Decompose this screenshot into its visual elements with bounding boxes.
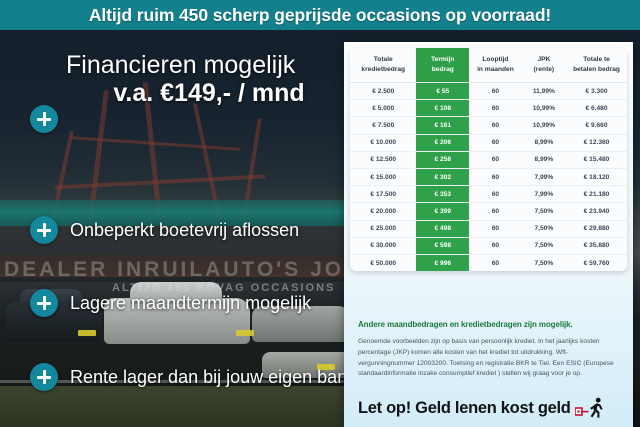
table-header-jpk: JPK (rente)	[522, 48, 566, 83]
table-cell: 8,99%	[522, 151, 566, 168]
disclaimer-body: Genoemde voorbeelden zijn op basis van p…	[358, 337, 620, 380]
table-cell: € 7.500	[350, 117, 416, 134]
disclaimer-title: Andere maandbedragen en kredietbedragen …	[358, 320, 620, 330]
bullet-label: Rente lager dan bij jouw eigen bank	[70, 367, 356, 388]
table-cell: € 18.120	[566, 169, 627, 186]
table-cell: 60	[469, 100, 522, 117]
table-cell: € 10.000	[350, 134, 416, 151]
table-row: € 10.000€ 206608,99%€ 12.360	[350, 134, 627, 151]
advertisement-banner: DEALER INRUILAUTO'S JOHAN MEURE ALTIJD 4…	[0, 0, 640, 427]
table-row: € 15.000€ 302607,99%€ 18.120	[350, 169, 627, 186]
table-cell: € 399	[416, 203, 469, 220]
table-header-totale-te-betalen: Totale te betalen bedrag	[566, 48, 627, 83]
table-cell: € 17.500	[350, 186, 416, 203]
table-row: € 2.500€ 556011,99%€ 3.300	[350, 83, 627, 100]
table-cell: 7,50%	[522, 220, 566, 237]
table-cell: 7,99%	[522, 186, 566, 203]
table-cell: 60	[469, 169, 522, 186]
bullet-item-rente: Rente lager dan bij jouw eigen bank	[30, 363, 356, 391]
table-cell: € 50.000	[350, 254, 416, 271]
table-cell: € 21.180	[566, 186, 627, 203]
table-row: € 50.000€ 996607,50%€ 59.760	[350, 254, 627, 271]
table-cell: 60	[469, 237, 522, 254]
table-cell: € 20.000	[350, 203, 416, 220]
header-line: Totale	[374, 56, 393, 63]
table-cell: € 3.300	[566, 83, 627, 100]
table-cell: € 2.500	[350, 83, 416, 100]
table-row: € 7.500€ 1616010,99%€ 9.660	[350, 117, 627, 134]
table-row: € 5.000€ 1086010,99%€ 6.480	[350, 100, 627, 117]
header-line: JPK	[537, 56, 550, 63]
plus-icon	[30, 289, 58, 317]
table-cell: 8,99%	[522, 134, 566, 151]
table-row: € 20.000€ 399607,50%€ 23.940	[350, 203, 627, 220]
header-line: Termijn	[431, 56, 454, 63]
table-cell: 60	[469, 220, 522, 237]
table-cell: 60	[469, 134, 522, 151]
table-cell: 60	[469, 83, 522, 100]
table-cell: € 206	[416, 134, 469, 151]
legal-warning: Let op! Geld lenen kost geld	[358, 397, 605, 419]
table-cell: 60	[469, 151, 522, 168]
table-header-looptijd: Looptijd in maanden	[469, 48, 522, 83]
table-cell: € 55	[416, 83, 469, 100]
legal-warning-text: Let op! Geld lenen kost geld	[358, 399, 571, 418]
header-line: in maanden	[477, 66, 514, 73]
table-cell: € 302	[416, 169, 469, 186]
table-cell: € 30.000	[350, 237, 416, 254]
rates-panel: Totale kredietbedrag Termijn bedrag Loop…	[344, 42, 633, 427]
table-cell: € 996	[416, 254, 469, 271]
table-cell: 7,50%	[522, 203, 566, 220]
table-cell: 7,50%	[522, 237, 566, 254]
table-cell: € 498	[416, 220, 469, 237]
top-banner-text: Altijd ruim 450 scherp geprijsde occasio…	[89, 5, 551, 26]
table-cell: € 6.480	[566, 100, 627, 117]
table-cell: € 12.360	[566, 134, 627, 151]
table-cell: € 25.000	[350, 220, 416, 237]
table-cell: € 15.480	[566, 151, 627, 168]
plus-icon	[30, 363, 58, 391]
table-cell: 60	[469, 203, 522, 220]
table-cell: 7,99%	[522, 169, 566, 186]
table-cell: 10,99%	[522, 100, 566, 117]
rates-table-card: Totale kredietbedrag Termijn bedrag Loop…	[350, 48, 627, 271]
table-cell: € 23.940	[566, 203, 627, 220]
table-header-row: Totale kredietbedrag Termijn bedrag Loop…	[350, 48, 627, 83]
table-cell: € 353	[416, 186, 469, 203]
table-cell: 10,99%	[522, 117, 566, 134]
bullet-label: Onbeperkt boetevrij aflossen	[70, 220, 299, 241]
rates-table: Totale kredietbedrag Termijn bedrag Loop…	[350, 48, 627, 271]
top-banner: Altijd ruim 450 scherp geprijsde occasio…	[0, 0, 640, 30]
table-row: € 25.000€ 498607,50%€ 29.880	[350, 220, 627, 237]
table-cell: € 258	[416, 151, 469, 168]
table-cell: € 108	[416, 100, 469, 117]
table-cell: 7,50%	[522, 254, 566, 271]
table-cell: 11,99%	[522, 83, 566, 100]
header-line: (rente)	[534, 66, 555, 73]
plus-icon	[30, 216, 58, 244]
left-content-column: Financieren mogelijk v.a. €149,- / mnd O…	[0, 30, 352, 427]
table-cell: € 598	[416, 237, 469, 254]
header-line: Looptijd	[482, 56, 508, 63]
bullet-item-aflossen: Onbeperkt boetevrij aflossen	[30, 216, 299, 244]
table-row: € 12.500€ 258608,99%€ 15.480	[350, 151, 627, 168]
table-header-termijnbedrag: Termijn bedrag	[416, 48, 469, 83]
table-cell: € 29.880	[566, 220, 627, 237]
header-line: Totale te	[583, 56, 610, 63]
page-title: Financieren mogelijk v.a. €149,- / mnd	[66, 52, 352, 108]
header-line: betalen bedrag	[573, 66, 620, 73]
table-cell: € 9.660	[566, 117, 627, 134]
table-cell: € 5.000	[350, 100, 416, 117]
running-person-warning-icon	[575, 397, 605, 419]
table-cell: € 12.500	[350, 151, 416, 168]
bullet-item-maandtermijn: Lagere maandtermijn mogelijk	[30, 289, 311, 317]
table-cell: 60	[469, 254, 522, 271]
header-line: kredietbedrag	[361, 66, 405, 73]
disclaimer-section: Andere maandbedragen en kredietbedragen …	[358, 320, 620, 380]
table-cell: € 59.760	[566, 254, 627, 271]
table-cell: 60	[469, 117, 522, 134]
bullet-item-financieren	[30, 105, 58, 133]
table-cell: 60	[469, 186, 522, 203]
table-row: € 30.000€ 598607,50%€ 35.880	[350, 237, 627, 254]
table-cell: € 35.880	[566, 237, 627, 254]
headline-line-2: v.a. €149,- / mnd	[66, 79, 352, 109]
table-cell: € 15.000	[350, 169, 416, 186]
table-cell: € 161	[416, 117, 469, 134]
table-header-kredietbedrag: Totale kredietbedrag	[350, 48, 416, 83]
plus-icon	[30, 105, 58, 133]
table-row: € 17.500€ 353607,99%€ 21.180	[350, 186, 627, 203]
rates-table-body: € 2.500€ 556011,99%€ 3.300€ 5.000€ 10860…	[350, 83, 627, 272]
headline-line-1: Financieren mogelijk	[66, 52, 352, 79]
header-line: bedrag	[432, 66, 454, 73]
bullet-label: Lagere maandtermijn mogelijk	[70, 293, 311, 314]
